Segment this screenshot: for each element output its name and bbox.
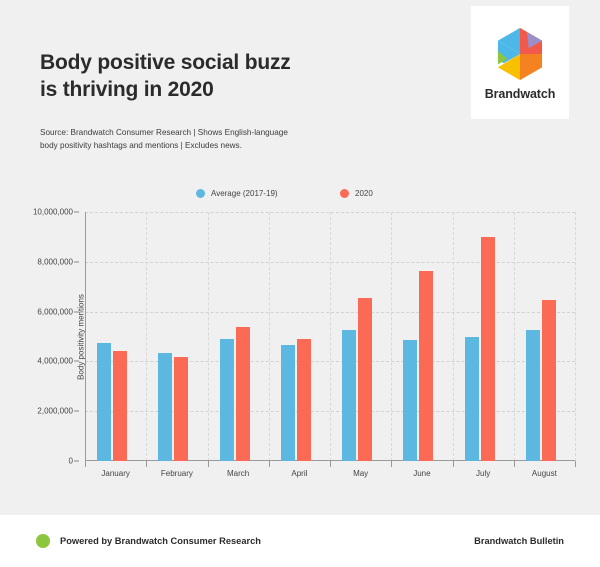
y-axis-tick xyxy=(74,212,79,213)
bar-february-average[interactable] xyxy=(158,353,172,461)
x-axis-label-july: July xyxy=(476,469,490,478)
footer-powered-by-label: Powered by Brandwatch Consumer Research xyxy=(60,536,261,546)
source-note: Source: Brandwatch Consumer Research | S… xyxy=(40,127,288,152)
bar-march-average[interactable] xyxy=(220,339,234,461)
footer-powered-by: Powered by Brandwatch Consumer Research xyxy=(36,534,261,548)
x-axis-tick xyxy=(269,461,270,467)
bar-june-average[interactable] xyxy=(403,340,417,462)
y-axis-tick-label: 10,000,000 xyxy=(33,208,73,217)
bar-chart: Average (2017-19) 2020 Body positivity m… xyxy=(0,186,600,496)
legend-swatch-2020 xyxy=(340,189,349,198)
x-axis-tick xyxy=(514,461,515,467)
bar-april-average[interactable] xyxy=(281,345,295,461)
bar-may-average[interactable] xyxy=(342,330,356,461)
x-axis-tick xyxy=(453,461,454,467)
x-axis-tick xyxy=(391,461,392,467)
legend-label-2020: 2020 xyxy=(355,189,373,198)
y-axis-tick-label: 6,000,000 xyxy=(37,307,73,316)
footer: Powered by Brandwatch Consumer Research … xyxy=(0,515,600,567)
y-axis-labels: 02,000,0004,000,0006,000,0008,000,00010,… xyxy=(3,212,79,461)
brandwatch-logo-box: Brandwatch xyxy=(471,6,569,119)
page-title: Body positive social buzz is thriving in… xyxy=(40,50,291,104)
bar-group xyxy=(146,212,207,461)
y-axis-tick xyxy=(74,361,79,362)
bar-april-2020[interactable] xyxy=(297,339,311,461)
brandwatch-logo-text: Brandwatch xyxy=(485,87,556,101)
x-axis-tick xyxy=(146,461,147,467)
bar-group xyxy=(330,212,391,461)
x-axis-label-january: January xyxy=(101,469,129,478)
bar-group xyxy=(208,212,269,461)
bar-may-2020[interactable] xyxy=(358,298,372,461)
bar-group xyxy=(453,212,514,461)
x-axis-label-february: February xyxy=(161,469,193,478)
y-axis-tick xyxy=(74,411,79,412)
bar-march-2020[interactable] xyxy=(236,327,250,461)
x-axis-ticks xyxy=(85,461,575,468)
x-axis-tick xyxy=(575,461,576,467)
x-axis-tick xyxy=(208,461,209,467)
x-axis-label-april: April xyxy=(291,469,307,478)
y-axis-tick-label: 0 xyxy=(69,457,73,466)
header: Body positive social buzz is thriving in… xyxy=(0,0,600,188)
y-axis-tick-label: 2,000,000 xyxy=(37,407,73,416)
gridline-vertical xyxy=(575,212,576,461)
x-axis-label-august: August xyxy=(532,469,557,478)
y-axis-tick-label: 4,000,000 xyxy=(37,357,73,366)
bar-group xyxy=(391,212,452,461)
bar-group xyxy=(269,212,330,461)
bar-july-2020[interactable] xyxy=(481,237,495,461)
footer-bulletin-label: Brandwatch Bulletin xyxy=(474,536,564,546)
x-axis-labels: JanuaryFebruaryMarchAprilMayJuneJulyAugu… xyxy=(85,469,575,483)
legend-label-average: Average (2017-19) xyxy=(211,189,278,198)
x-axis-label-march: March xyxy=(227,469,249,478)
bar-january-average[interactable] xyxy=(97,343,111,461)
legend-swatch-average xyxy=(196,189,205,198)
bar-june-2020[interactable] xyxy=(419,271,433,461)
infographic-page: Body positive social buzz is thriving in… xyxy=(0,0,600,567)
y-axis-tick xyxy=(74,311,79,312)
brandwatch-hexagon-logo-icon xyxy=(491,25,549,83)
y-axis-tick xyxy=(74,461,79,462)
plot-area: Body positivity mentions 02,000,0004,000… xyxy=(85,212,575,461)
bar-group xyxy=(514,212,575,461)
legend-item-average[interactable]: Average (2017-19) xyxy=(196,189,278,198)
bar-january-2020[interactable] xyxy=(113,351,127,461)
bars-layer xyxy=(85,212,575,461)
green-dot-icon xyxy=(36,534,50,548)
x-axis-tick xyxy=(85,461,86,467)
y-axis-tick xyxy=(74,261,79,262)
y-axis-tick-label: 8,000,000 xyxy=(37,257,73,266)
x-axis-label-may: May xyxy=(353,469,368,478)
legend-item-2020[interactable]: 2020 xyxy=(340,189,373,198)
x-axis-label-june: June xyxy=(413,469,430,478)
bar-august-average[interactable] xyxy=(526,330,540,461)
bar-july-average[interactable] xyxy=(465,337,479,462)
bar-group xyxy=(85,212,146,461)
bar-february-2020[interactable] xyxy=(174,357,188,461)
chart-legend: Average (2017-19) 2020 xyxy=(0,186,600,210)
x-axis-tick xyxy=(330,461,331,467)
bar-august-2020[interactable] xyxy=(542,300,556,461)
